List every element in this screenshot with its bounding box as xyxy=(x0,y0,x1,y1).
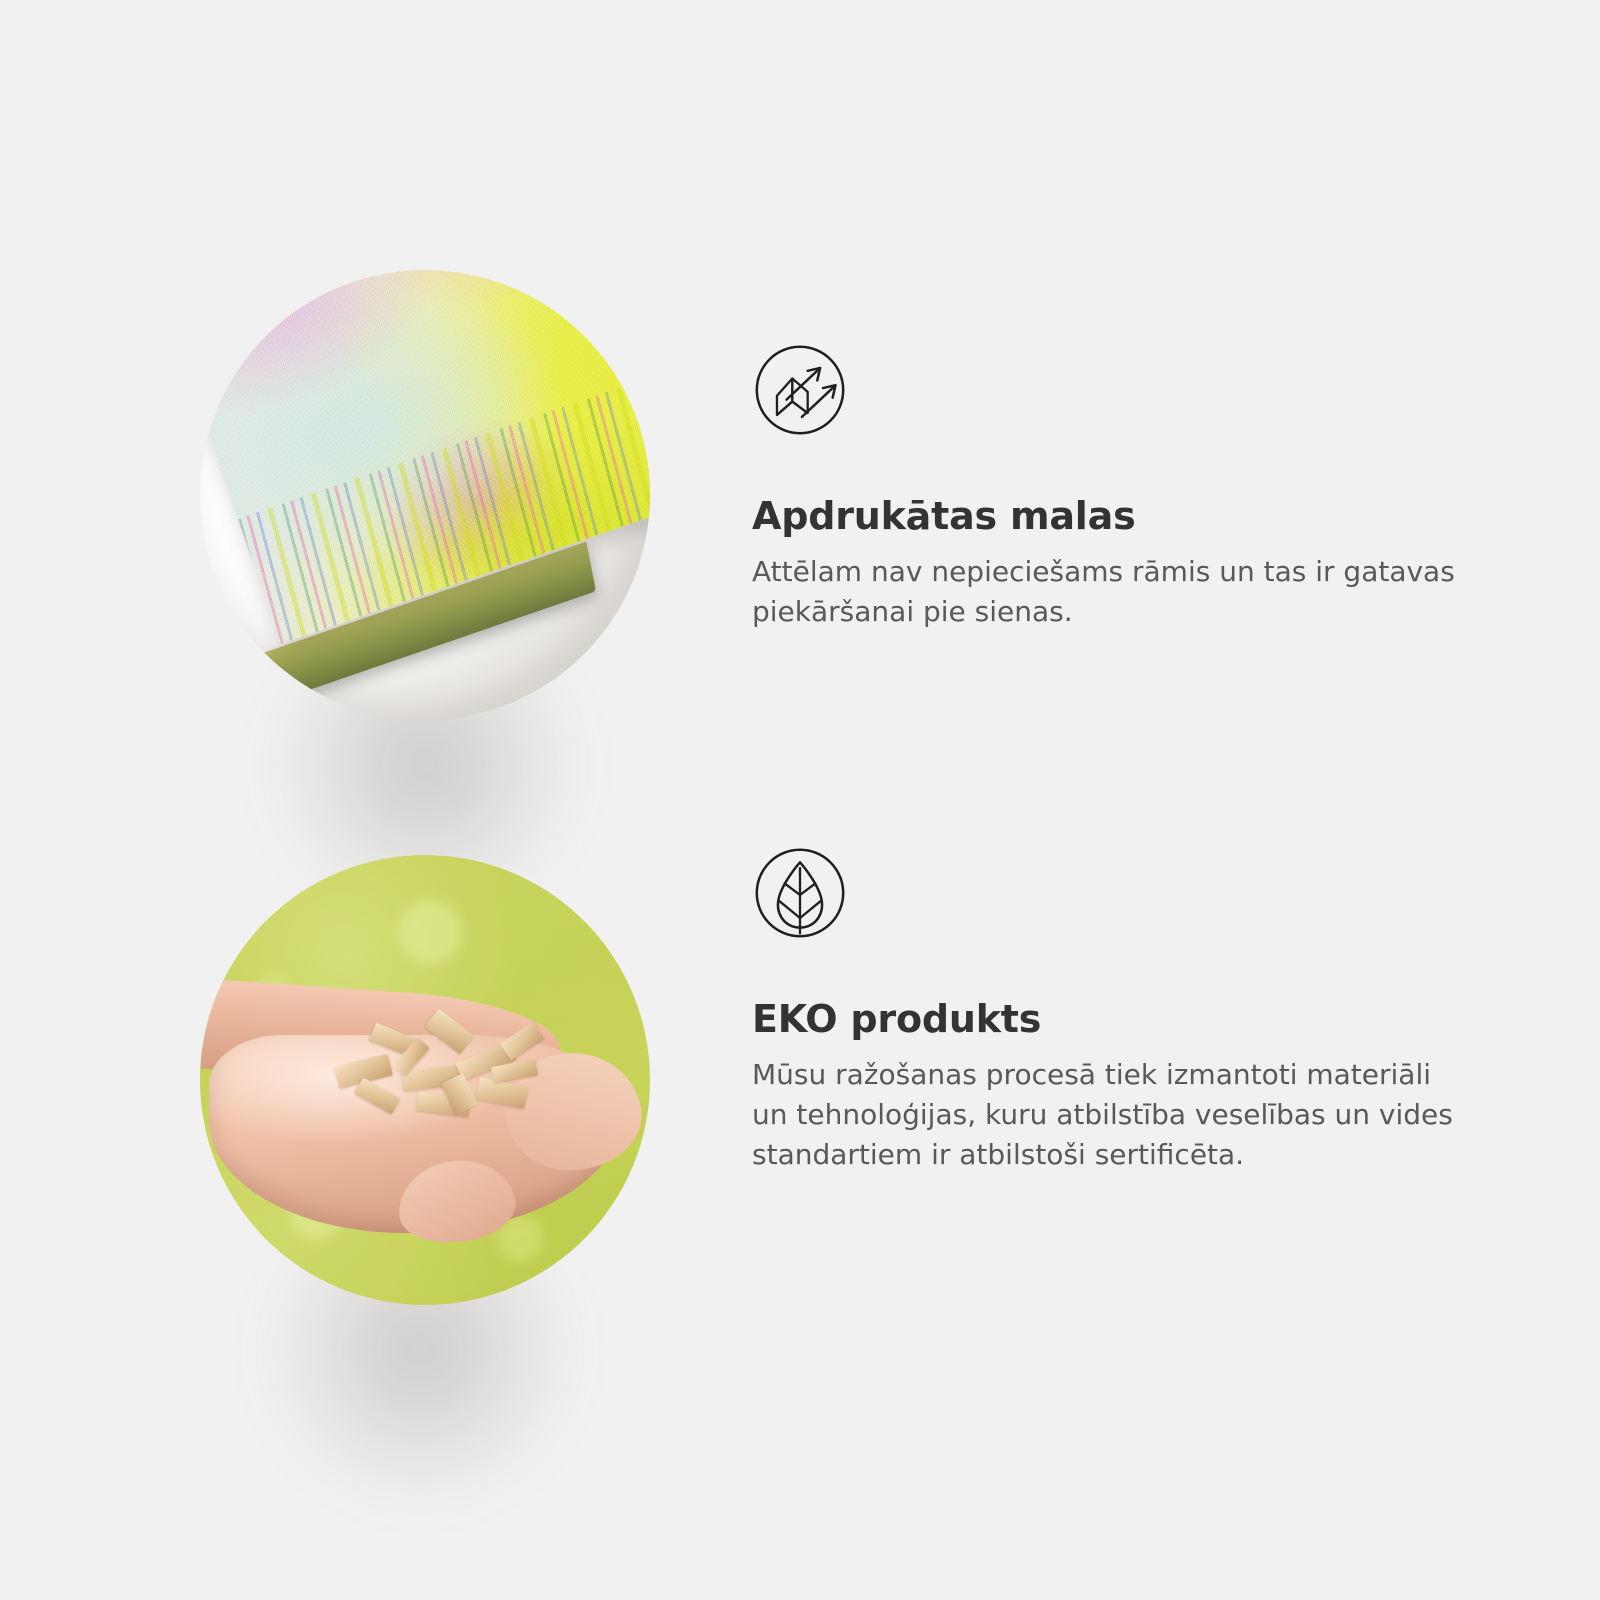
feature-body-eco: Mūsu ražošanas procesā tiek izmantoti ma… xyxy=(752,1055,1462,1174)
wood-chip xyxy=(500,1021,545,1060)
canvas-corner-photo xyxy=(200,270,650,720)
feature-page: Apdrukātas malas Attēlam nav nepieciešam… xyxy=(0,0,1600,1600)
wood-chip xyxy=(475,1077,529,1109)
eco-photo-circle xyxy=(200,855,650,1305)
feature-title-printed-edges: Apdrukātas malas xyxy=(752,494,1492,538)
printed-edges-copy: Apdrukātas malas Attēlam nav nepieciešam… xyxy=(752,342,1492,632)
canvas-photo-circle xyxy=(200,270,650,720)
eco-copy: EKO produkts Mūsu ražošanas procesā tiek… xyxy=(752,845,1492,1174)
canvas-wrap-illustration xyxy=(200,270,650,720)
feature-body-printed-edges: Attēlam nav nepieciešams rāmis un tas ir… xyxy=(752,552,1462,632)
feature-title-eco: EKO produkts xyxy=(752,997,1492,1041)
hand-wood-chips-photo xyxy=(200,855,650,1305)
wood-chips-pile xyxy=(326,1004,578,1139)
leaf-icon xyxy=(752,845,848,941)
wood-chip xyxy=(355,1078,401,1115)
wood-chip xyxy=(425,1008,475,1054)
feature-block-printed-edges: Apdrukātas malas Attēlam nav nepieciešam… xyxy=(0,250,1600,750)
printed-edges-icon xyxy=(752,342,848,438)
feature-block-eco: EKO produkts Mūsu ražošanas procesā tiek… xyxy=(0,835,1600,1335)
bokeh-blob xyxy=(398,900,462,964)
